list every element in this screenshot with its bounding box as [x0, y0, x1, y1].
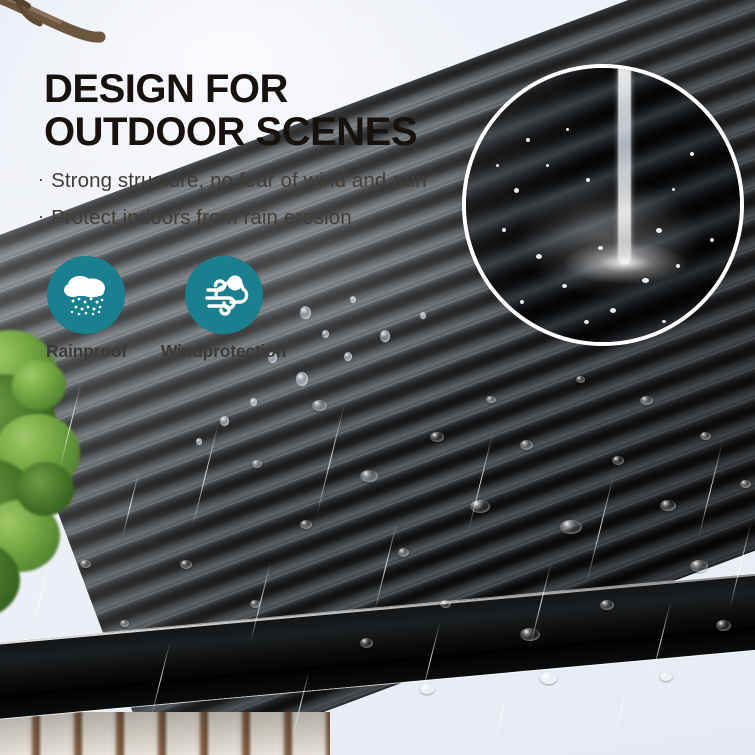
rainproof-badge [47, 256, 125, 334]
benefit-text: Strong structure, no fear of wind and ra… [51, 166, 427, 196]
list-item: · Strong structure, no fear of wind and … [38, 166, 468, 196]
product-feature-poster: DESIGN FOR OUTDOOR SCENES · Strong struc… [0, 0, 755, 755]
rain-cloud-icon [58, 265, 114, 326]
benefit-list: · Strong structure, no fear of wind and … [38, 166, 468, 239]
bullet-dot-icon: · [38, 203, 44, 229]
feature-windprotection: Windprotection [161, 256, 286, 362]
headline-line-2: OUTDOOR SCENES [44, 111, 474, 154]
benefit-text: Protect indoors from rain erosion [51, 203, 352, 233]
page-title: DESIGN FOR OUTDOOR SCENES [44, 68, 474, 154]
wooden-fence [0, 712, 330, 755]
tree-branch [0, 0, 178, 70]
feature-badges: Rainproof Windprotection [46, 256, 286, 362]
wind-cloud-sun-icon [196, 265, 252, 326]
feature-label: Rainproof [46, 341, 127, 362]
water-spray-droplets [466, 68, 740, 342]
feature-rainproof: Rainproof [46, 256, 127, 362]
bullet-dot-icon: · [38, 166, 44, 192]
tree-foliage [0, 330, 154, 630]
feature-label: Windprotection [161, 341, 286, 362]
headline-line-1: DESIGN FOR [44, 67, 288, 111]
windprotection-badge [185, 256, 263, 334]
list-item: · Protect indoors from rain erosion [38, 203, 468, 233]
water-splash-detail-photo [462, 64, 744, 346]
